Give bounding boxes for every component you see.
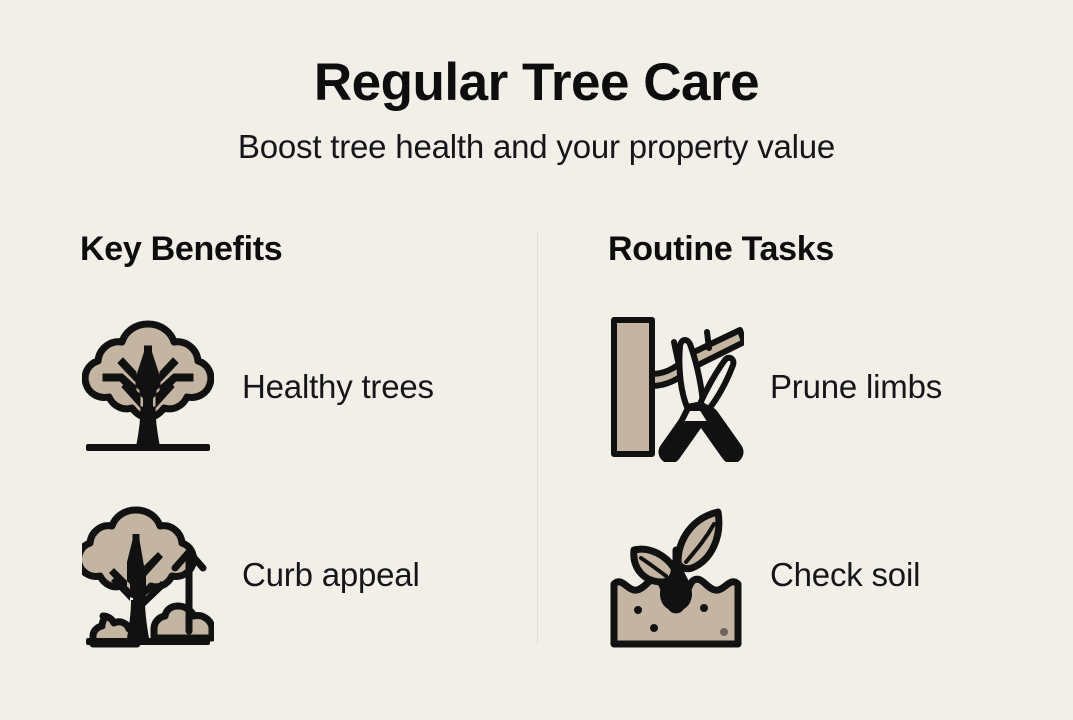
poster-header: Regular Tree Care Boost tree health and …: [0, 54, 1073, 166]
task-list: Prune limbs: [608, 312, 1068, 650]
pruning-shears-icon: [608, 312, 744, 462]
list-item-curb-appeal: Curb appeal: [80, 500, 540, 650]
page-title: Regular Tree Care: [0, 54, 1073, 111]
list-item-label: Check soil: [770, 556, 920, 594]
list-item-prune-limbs: Prune limbs: [608, 312, 1068, 462]
list-item-check-soil: Check soil: [608, 500, 1068, 650]
page-subtitle: Boost tree health and your property valu…: [0, 129, 1073, 165]
column-heading-routine-tasks: Routine Tasks: [608, 232, 1068, 266]
tree-icon: [80, 312, 216, 462]
benefit-list: Healthy trees: [80, 312, 540, 650]
column-key-benefits: Key Benefits: [80, 232, 540, 650]
list-item-healthy-trees: Healthy trees: [80, 312, 540, 462]
infographic-poster: Regular Tree Care Boost tree health and …: [0, 0, 1073, 720]
list-item-label: Healthy trees: [242, 368, 434, 406]
seedling-soil-icon: [608, 500, 744, 650]
list-item-label: Prune limbs: [770, 368, 942, 406]
list-item-label: Curb appeal: [242, 556, 420, 594]
column-routine-tasks: Routine Tasks: [608, 232, 1068, 650]
column-heading-key-benefits: Key Benefits: [80, 232, 540, 266]
tree-with-arrow-icon: [80, 500, 216, 650]
